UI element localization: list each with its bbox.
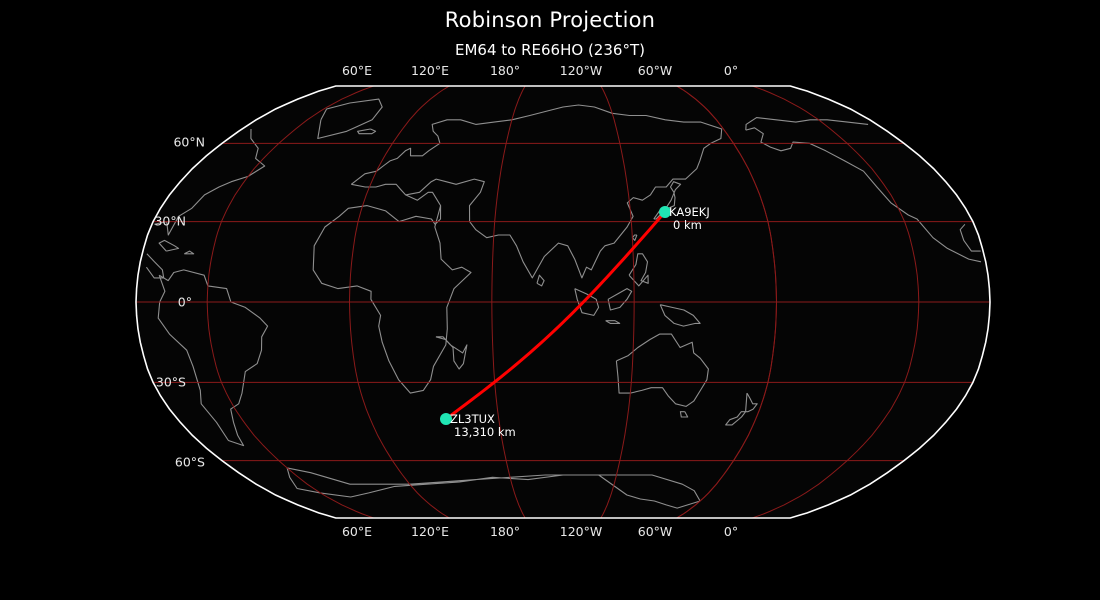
latitude-tick-label: 60°S: [0, 455, 205, 470]
latitude-tick-label: 0°: [0, 295, 192, 310]
station-distance: 13,310 km: [454, 426, 516, 439]
latitude-tick-label: 30°S: [0, 375, 186, 390]
station-label-zl3tux: ZL3TUX13,310 km: [450, 413, 516, 439]
station-distance: 0 km: [673, 219, 710, 232]
longitude-tick-label: 0°: [724, 63, 738, 78]
map-figure: Robinson Projection EM64 to RE66HO (236°…: [0, 0, 1100, 600]
longitude-tick-label: 60°E: [342, 524, 372, 539]
longitude-tick-label: 60°E: [342, 63, 372, 78]
longitude-tick-label: 120°E: [411, 524, 449, 539]
longitude-tick-label: 120°E: [411, 63, 449, 78]
longitude-tick-label: 60°W: [638, 524, 673, 539]
latitude-tick-label: 60°N: [0, 135, 205, 150]
station-label-ka9ekj: KA9EKJ0 km: [669, 206, 710, 232]
longitude-tick-label: 180°: [490, 524, 520, 539]
latitude-tick-label: 30°N: [0, 214, 186, 229]
longitude-tick-label: 120°W: [560, 524, 602, 539]
longitude-tick-label: 120°W: [560, 63, 602, 78]
longitude-tick-label: 180°: [490, 63, 520, 78]
longitude-tick-label: 0°: [724, 524, 738, 539]
longitude-tick-label: 60°W: [638, 63, 673, 78]
